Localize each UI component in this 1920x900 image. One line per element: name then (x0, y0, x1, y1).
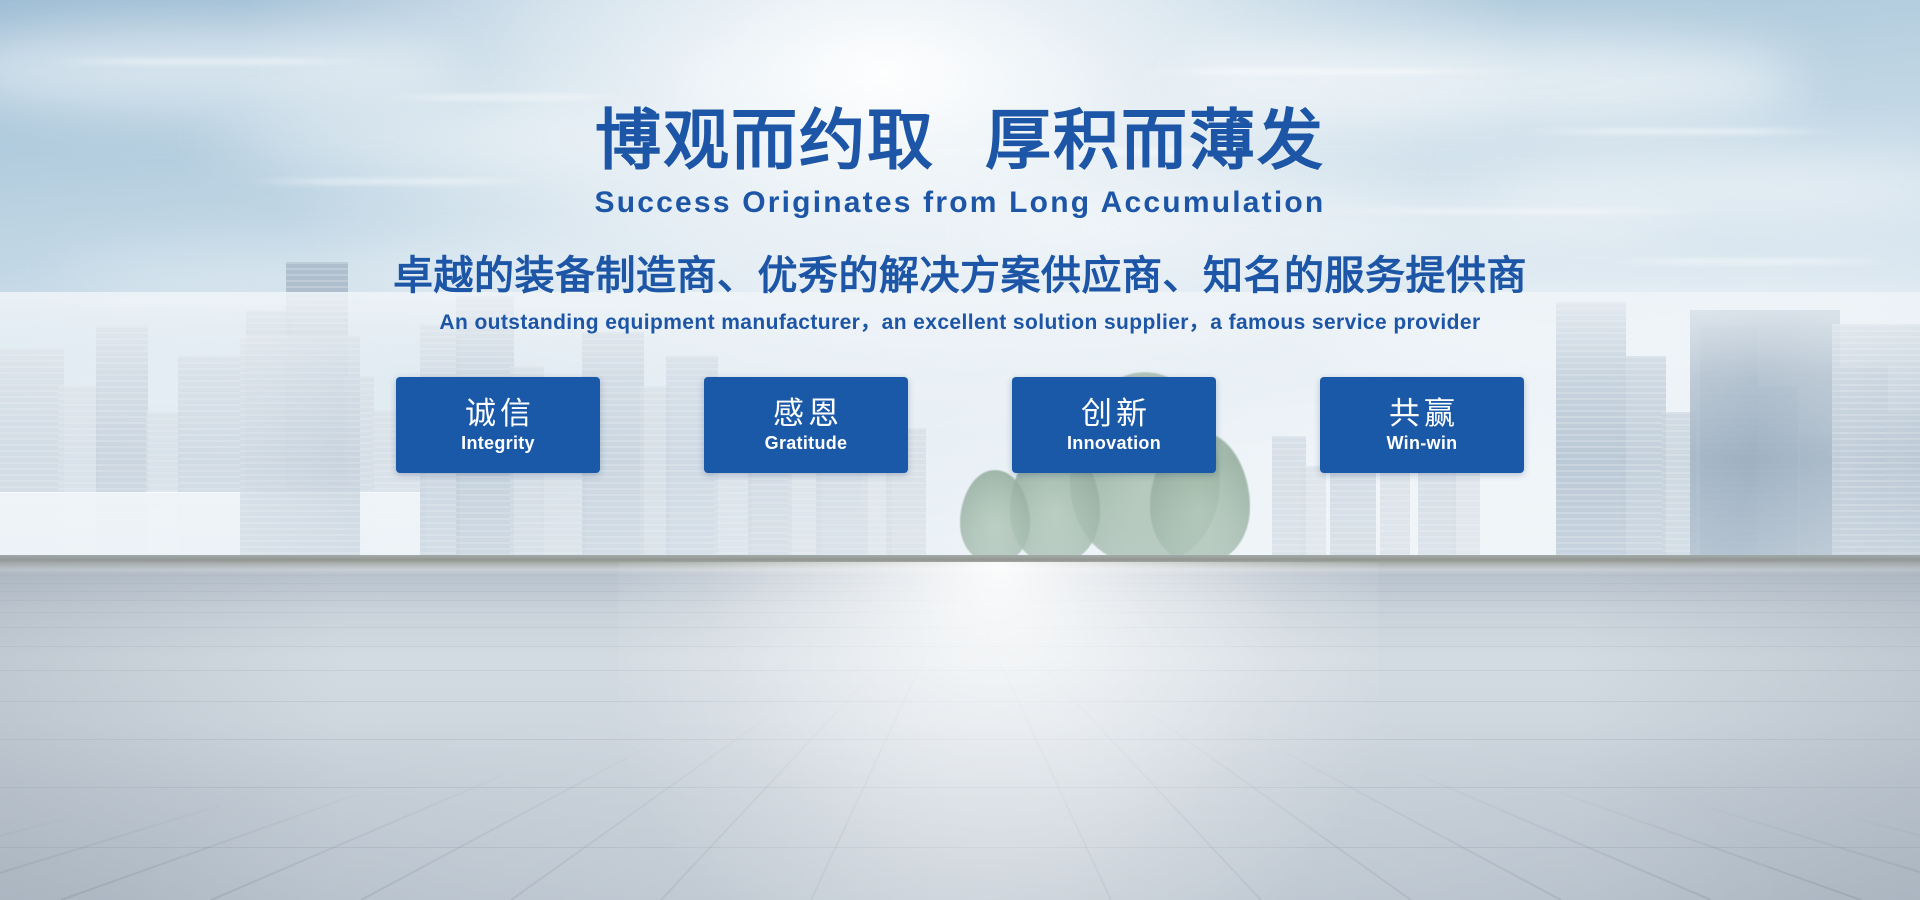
value-card-win-win[interactable]: 共赢Win-win (1320, 377, 1524, 473)
paving-joint-horizontal (0, 612, 1920, 613)
tree-cluster (960, 470, 1030, 562)
paving-joint-vertical (0, 805, 218, 900)
tagline-english: An outstanding equipment manufacturer，an… (0, 312, 1920, 333)
ground-vignette (0, 555, 1920, 900)
paving-joint-vertical (361, 748, 645, 900)
skyline-building (1300, 466, 1326, 562)
plaza-curb-shadow (0, 569, 1920, 576)
banner-content: 博观而约取 厚积而薄发 Success Originates from Long… (0, 0, 1920, 473)
paving-joint-horizontal (0, 627, 1920, 628)
headline-english: Success Originates from Long Accumulatio… (0, 188, 1920, 218)
headline-chinese: 博观而约取 厚积而薄发 (0, 108, 1920, 174)
paving-joint-vertical (510, 713, 772, 900)
paving-joint-vertical (1277, 748, 1561, 900)
tagline-chinese: 卓越的装备制造商、优秀的解决方案供应商、知名的服务提供商 (0, 256, 1920, 296)
paving-joint-vertical (1704, 805, 1920, 900)
paving-joint-horizontal (0, 646, 1920, 647)
paving-joint-vertical (1851, 816, 1920, 900)
value-card-gratitude[interactable]: 感恩Gratitude (704, 377, 908, 473)
paving-joint-horizontal (0, 739, 1920, 740)
paving-joint-vertical (0, 816, 71, 900)
value-card-label-en: Win-win (1387, 434, 1458, 452)
value-card-label-en: Integrity (461, 434, 535, 452)
value-card-integrity[interactable]: 诚信Integrity (396, 377, 600, 473)
value-card-label-zh: 诚信 (461, 398, 535, 431)
paving-joint-horizontal (0, 701, 1920, 702)
paving-joint-vertical (810, 609, 948, 900)
value-card-innovation[interactable]: 创新Innovation (1012, 377, 1216, 473)
plaza-curb (0, 555, 1920, 569)
value-card-label-zh: 感恩 (769, 398, 843, 431)
paving-joint-vertical (974, 609, 1112, 900)
paving-joint-horizontal (0, 600, 1920, 601)
value-card-label-zh: 共赢 (1385, 398, 1459, 431)
paving-joint-horizontal (0, 787, 1920, 788)
paving-joint-horizontal (0, 591, 1920, 592)
value-card-list: 诚信Integrity感恩Gratitude创新Innovation共赢Win-… (0, 377, 1920, 473)
skyline-building (1452, 470, 1480, 562)
paving-joint-horizontal (0, 847, 1920, 848)
plaza-ground (0, 555, 1920, 900)
paving-joint-horizontal (0, 583, 1920, 584)
value-card-label-en: Gratitude (765, 434, 848, 452)
value-card-label-en: Innovation (1067, 434, 1161, 452)
corporate-banner: 博观而约取 厚积而薄发 Success Originates from Long… (0, 0, 1920, 900)
paving-joint-vertical (1149, 713, 1411, 900)
paving-joint-horizontal (0, 670, 1920, 671)
value-card-label-zh: 创新 (1077, 398, 1151, 431)
